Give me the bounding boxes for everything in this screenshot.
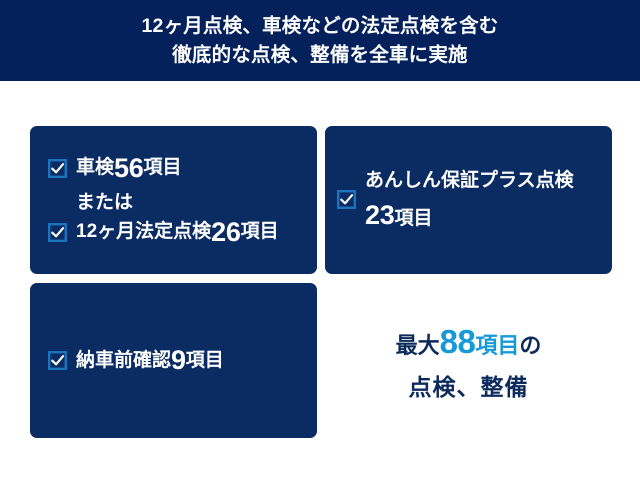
list-item-label: 12ヶ月法定点検: [76, 221, 211, 243]
summary-unit: 項目: [475, 333, 519, 358]
list-item-unit: 項目: [186, 350, 224, 372]
warranty-row: あんしん保証プラス点検 23 項目: [337, 170, 574, 230]
summary-number: 88: [440, 323, 476, 360]
warranty-count-line: 23 項目: [365, 202, 574, 230]
list-item: 納車前確認 9 項目: [48, 347, 224, 374]
checkbox-checked-icon: [48, 223, 67, 242]
list-item-unit: 項目: [241, 221, 279, 243]
checkbox-checked-icon: [48, 351, 67, 370]
checkbox-checked-icon: [48, 159, 67, 178]
list-item-number: 56: [114, 155, 143, 182]
list-item-label: 納車前確認: [76, 350, 171, 372]
list-item-number: 26: [211, 219, 240, 246]
summary-total: 最大88項目の 点検、整備: [325, 321, 612, 402]
warranty-unit: 項目: [394, 208, 432, 230]
card-inspection-items: 車検 56 項目 または 12ヶ月法定点検 26 項目: [30, 126, 317, 274]
or-label: または: [76, 187, 133, 214]
summary-prefix: 最大: [396, 333, 440, 358]
header-banner: 12ヶ月点検、車検などの法定点検を含む 徹底的な点検、整備を全車に実施: [0, 0, 640, 81]
card-warranty-inspection: あんしん保証プラス点検 23 項目: [325, 126, 612, 274]
header-line-2: 徹底的な点検、整備を全車に実施: [172, 41, 468, 70]
card-predelivery-check: 納車前確認 9 項目: [30, 283, 317, 438]
list-item: 車検 56 項目: [48, 155, 279, 182]
header-line-1: 12ヶ月点検、車検などの法定点検を含む: [142, 12, 499, 41]
list-item-unit: 項目: [143, 157, 181, 179]
summary-particle: の: [519, 333, 541, 358]
summary-line-1: 最大88項目の: [325, 321, 612, 362]
content-area: 車検 56 項目 または 12ヶ月法定点検 26 項目: [0, 81, 640, 480]
predelivery-line-list: 納車前確認 9 項目: [48, 347, 224, 374]
checkbox-checked-icon: [337, 190, 356, 209]
list-item-number: 9: [171, 347, 186, 374]
warranty-number: 23: [365, 202, 394, 229]
warranty-label: あんしん保証プラス点検: [365, 170, 574, 193]
warranty-text-stack: あんしん保証プラス点検 23 項目: [365, 170, 574, 230]
summary-line-2: 点検、整備: [325, 368, 612, 402]
list-item-label: 車検: [76, 157, 114, 179]
inspection-line-list: 車検 56 項目 または 12ヶ月法定点検 26 項目: [48, 155, 279, 246]
list-item-or: または: [48, 187, 279, 214]
list-item: 12ヶ月法定点検 26 項目: [48, 219, 279, 246]
